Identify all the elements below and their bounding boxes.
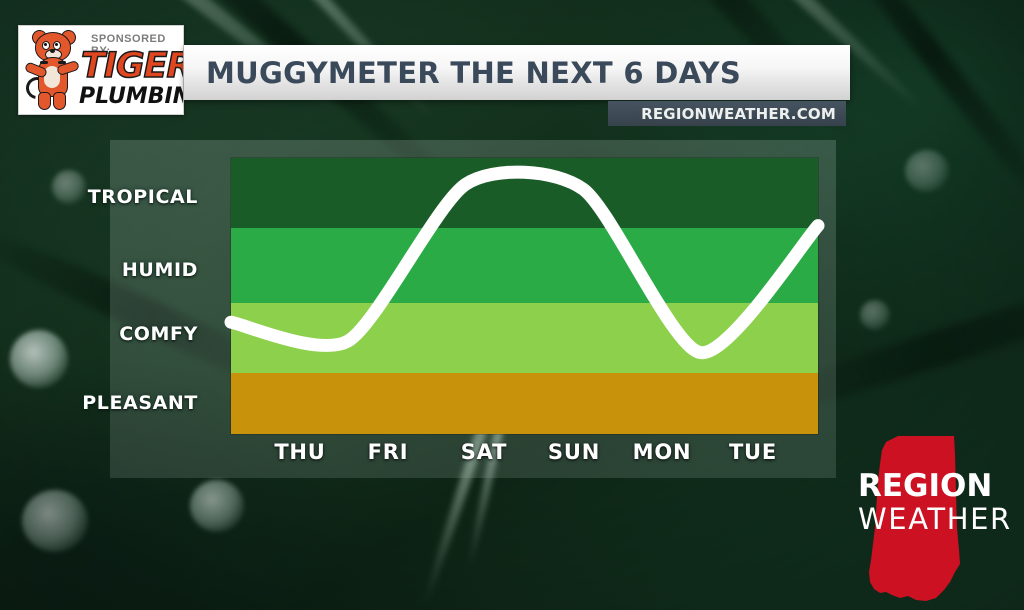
y-axis-label-humid: HUMID	[122, 259, 198, 281]
x-axis-label-fri: FRI	[333, 440, 443, 464]
tiger-mascot-icon	[25, 30, 83, 112]
sponsor-logo: SPONSORED BY: TIGER PLUMBING	[18, 25, 184, 115]
title-bar: MUGGYMETER THE NEXT 6 DAYS	[184, 45, 850, 100]
weather-graphic: SPONSORED BY: TIGER PLUMBING MUGGYMETER …	[0, 0, 1024, 610]
sponsor-name-primary: TIGER	[81, 46, 184, 86]
x-axis-label-tue: TUE	[698, 440, 808, 464]
website-url: REGIONWEATHER.COM	[641, 105, 836, 123]
muggymeter-curve	[231, 150, 831, 450]
sponsor-name-secondary: PLUMBING	[79, 84, 184, 109]
page-title: MUGGYMETER THE NEXT 6 DAYS	[206, 56, 741, 90]
brand-line-2: WEATHER	[858, 502, 1012, 536]
website-bar: REGIONWEATHER.COM	[608, 101, 846, 126]
y-axis-label-tropical: TROPICAL	[88, 186, 198, 208]
region-weather-logo: REGION WEATHER	[856, 432, 1016, 604]
brand-line-1: REGION	[858, 468, 992, 504]
y-axis-label-comfy: COMFY	[119, 323, 198, 345]
y-axis-label-pleasant: PLEASANT	[82, 392, 198, 414]
